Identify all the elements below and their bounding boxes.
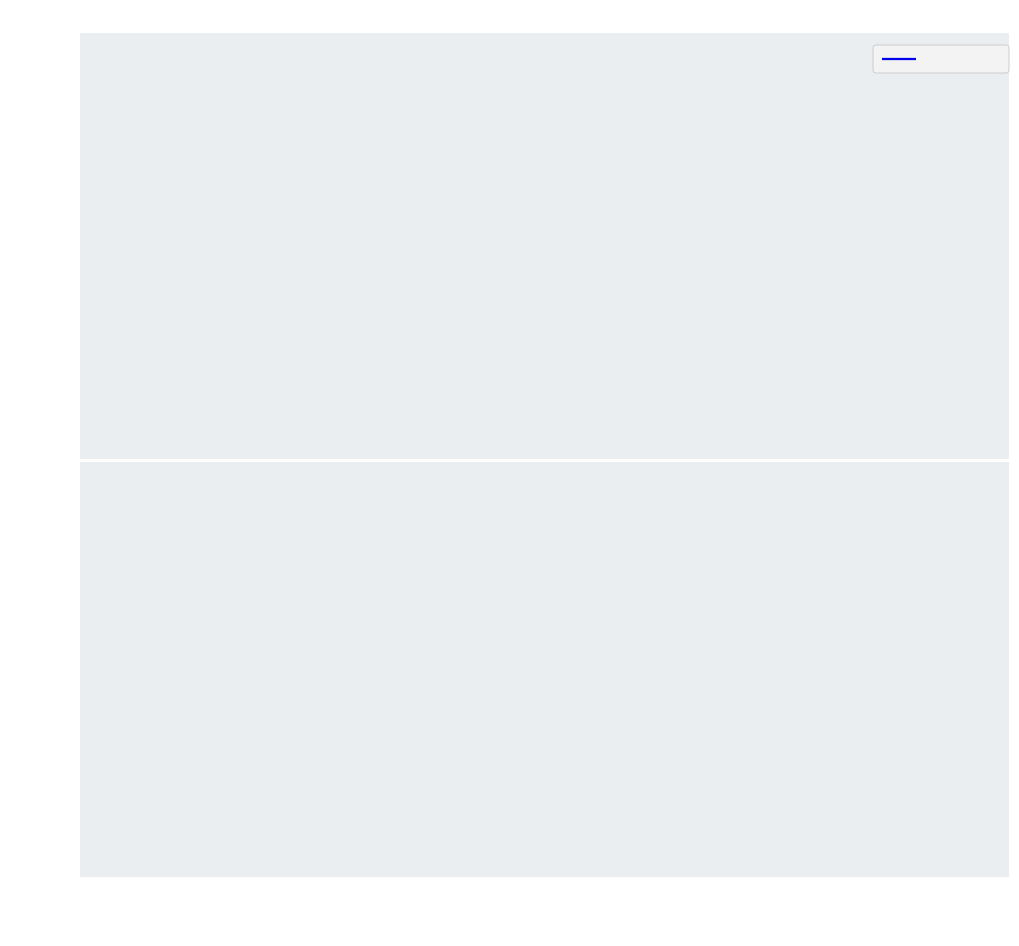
top-panel-background <box>80 33 1009 459</box>
bottom-panel-background <box>80 462 1009 877</box>
bottom-panel <box>80 462 1009 877</box>
legend[interactable] <box>873 45 1009 73</box>
chart-figure <box>0 0 1019 942</box>
top-panel <box>80 33 1009 459</box>
chart-canvas <box>0 0 1019 942</box>
